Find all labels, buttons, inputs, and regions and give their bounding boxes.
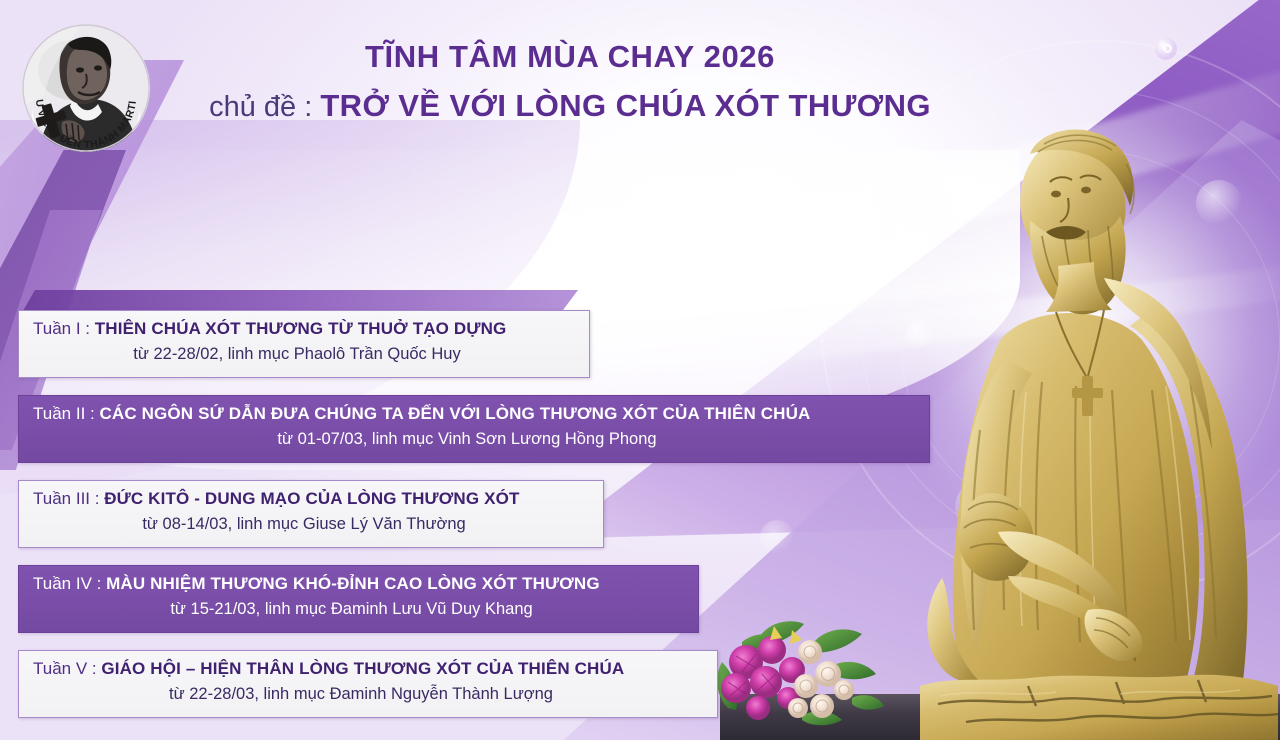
week-label: Tuần II :	[33, 404, 99, 423]
week-row[interactable]: Tuần I : THIÊN CHÚA XÓT THƯƠNG TỪ THUỞ T…	[18, 310, 590, 378]
week-detail: từ 08-14/03, linh mục Giuse Lý Văn Thườn…	[33, 513, 593, 535]
week-label: Tuần IV :	[33, 574, 106, 593]
week-row-heading: Tuần I : THIÊN CHÚA XÓT THƯƠNG TỪ THUỞ T…	[33, 318, 579, 340]
week-detail: từ 22-28/03, linh mục Đaminh Nguyễn Thàn…	[33, 683, 707, 705]
week-label: Tuần III :	[33, 489, 104, 508]
week-row[interactable]: Tuần V : GIÁO HỘI – HIỆN THÂN LÒNG THƯƠN…	[18, 650, 718, 718]
week-label: Tuần I :	[33, 319, 95, 338]
week-topic: MÀU NHIỆM THƯƠNG KHÓ-ĐỈNH CAO LÒNG XÓT T…	[106, 574, 600, 593]
week-topic: CÁC NGÔN SỨ DẪN ĐƯA CHÚNG TA ĐẾN VỚI LÒN…	[99, 404, 810, 423]
week-row[interactable]: Tuần III : ĐỨC KITÔ - DUNG MẠO CỦA LÒNG …	[18, 480, 604, 548]
week-topic: GIÁO HỘI – HIỆN THÂN LÒNG THƯƠNG XÓT CỦA…	[101, 659, 624, 678]
poster-canvas: TU VIỆN - ĐỀN THÁNH MARTIN TĨNH TÂM MÙA …	[0, 0, 1280, 740]
week-topic: THIÊN CHÚA XÓT THƯƠNG TỪ THUỞ TẠO DỰNG	[95, 319, 507, 338]
week-row-heading: Tuần III : ĐỨC KITÔ - DUNG MẠO CỦA LÒNG …	[33, 488, 593, 510]
week-row-heading: Tuần V : GIÁO HỘI – HIỆN THÂN LÒNG THƯƠN…	[33, 658, 707, 680]
tu-vien-den-thanh-martin-logo: TU VIỆN - ĐỀN THÁNH MARTIN	[22, 24, 150, 152]
week-detail: từ 22-28/02, linh mục Phaolô Trần Quốc H…	[33, 343, 579, 365]
week-detail: từ 01-07/03, linh mục Vinh Sơn Lương Hồn…	[33, 428, 919, 450]
week-row[interactable]: Tuần II : CÁC NGÔN SỨ DẪN ĐƯA CHÚNG TA Đ…	[18, 395, 930, 463]
subtitle-theme: TRỞ VỀ VỚI LÒNG CHÚA XÓT THƯƠNG	[320, 88, 931, 123]
poster-header: TĨNH TÂM MÙA CHAY 2026 chủ đề : TRỞ VỀ V…	[170, 40, 970, 124]
week-topic: ĐỨC KITÔ - DUNG MẠO CỦA LÒNG THƯƠNG XÓT	[104, 489, 519, 508]
week-row[interactable]: Tuần IV : MÀU NHIỆM THƯƠNG KHÓ-ĐỈNH CAO …	[18, 565, 699, 633]
week-row-heading: Tuần IV : MÀU NHIỆM THƯƠNG KHÓ-ĐỈNH CAO …	[33, 573, 688, 595]
week-detail: từ 15-21/03, linh mục Đaminh Lưu Vũ Duy …	[33, 598, 688, 620]
subtitle-lead: chủ đề :	[209, 91, 320, 123]
week-row-heading: Tuần II : CÁC NGÔN SỨ DẪN ĐƯA CHÚNG TA Đ…	[33, 403, 919, 425]
week-label: Tuần V :	[33, 659, 101, 678]
page-title: TĨNH TÂM MÙA CHAY 2026	[170, 40, 970, 73]
poster-subtitle: chủ đề : TRỞ VỀ VỚI LÒNG CHÚA XÓT THƯƠNG	[170, 89, 970, 124]
